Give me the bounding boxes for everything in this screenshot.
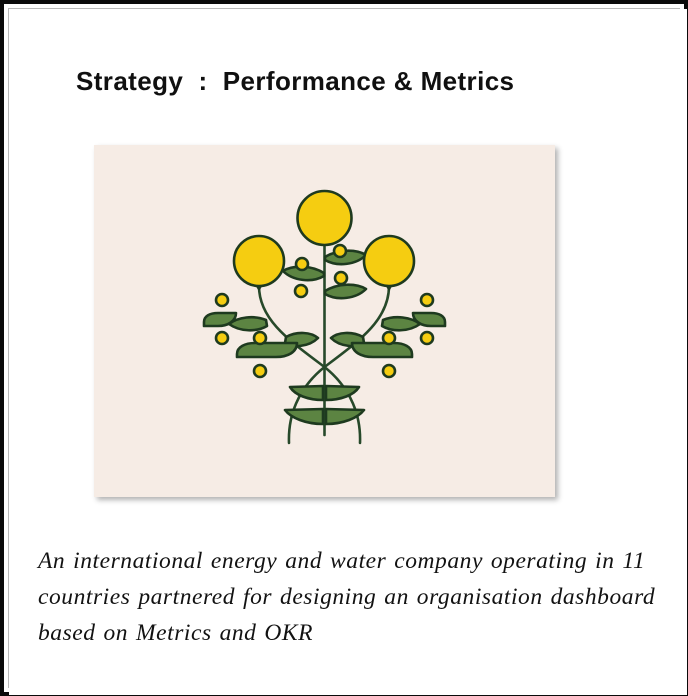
page-title: Strategy : Performance & Metrics — [76, 66, 514, 97]
illustration-card — [94, 145, 555, 497]
slide-body: Strategy : Performance & Metrics — [9, 9, 687, 695]
slide-frame: Strategy : Performance & Metrics — [0, 0, 688, 696]
floral-plant-illustration — [94, 145, 555, 497]
slide-caption: An international energy and water compan… — [38, 543, 678, 651]
